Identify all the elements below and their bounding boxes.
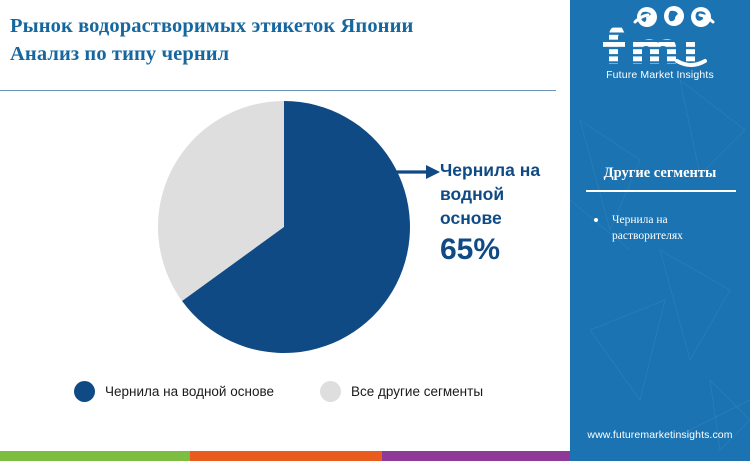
fmi-logo-mark (585, 6, 735, 68)
bar-segment-blue (570, 451, 750, 461)
callout-label: Чернила на водной основе 65% (440, 158, 560, 268)
bar-segment-orange (190, 451, 382, 461)
legend-swatch-icon (320, 381, 341, 402)
callout-label-line-1: Чернила на (440, 158, 560, 182)
callout-value: 65% (440, 232, 560, 268)
list-item-label: Чернила на растворителях (612, 214, 683, 242)
bullet-icon (594, 218, 598, 222)
other-segments-heading-rule (586, 190, 736, 192)
legend-item-label: Чернила на водной основе (105, 384, 274, 399)
callout-label-line-3: основе (440, 206, 560, 230)
page-title-line-1: Рынок водорастворимых этикеток Японии (10, 12, 550, 40)
arrow-right-icon (390, 160, 446, 184)
globe-europe-icon (664, 6, 684, 26)
legend-item-other-segments[interactable]: Все другие сегменты (320, 381, 483, 402)
website-url[interactable]: www.futuremarketinsights.com (570, 429, 750, 441)
pie-chart (157, 100, 411, 354)
legend-swatch-icon (74, 381, 95, 402)
chart-legend: Чернила на водной основе Все другие сегм… (74, 381, 483, 402)
bottom-color-bar (0, 451, 750, 461)
bar-segment-purple (382, 451, 570, 461)
logo-tagline: Future Market Insights (570, 69, 750, 81)
side-panel: Future Market Insights Другие сегменты Ч… (570, 0, 750, 461)
legend-item-water-based-ink[interactable]: Чернила на водной основе (74, 381, 274, 402)
page-title: Рынок водорастворимых этикеток Японии Ан… (10, 12, 550, 68)
other-segments-list: Чернила на растворителях (588, 212, 738, 252)
other-segments-heading: Другие сегменты (570, 165, 750, 182)
legend-item-label: Все другие сегменты (351, 384, 483, 399)
bar-segment-green (0, 451, 190, 461)
list-item[interactable]: Чернила на растворителях (588, 212, 738, 244)
callout-label-line-2: водной (440, 182, 560, 206)
slide-canvas: Рынок водорастворимых этикеток Японии Ан… (0, 0, 750, 461)
title-divider (0, 90, 556, 91)
pie-chart-svg (157, 100, 411, 354)
page-title-line-2: Анализ по типу чернил (10, 40, 550, 68)
fmi-logo[interactable]: Future Market Insights (570, 6, 750, 81)
